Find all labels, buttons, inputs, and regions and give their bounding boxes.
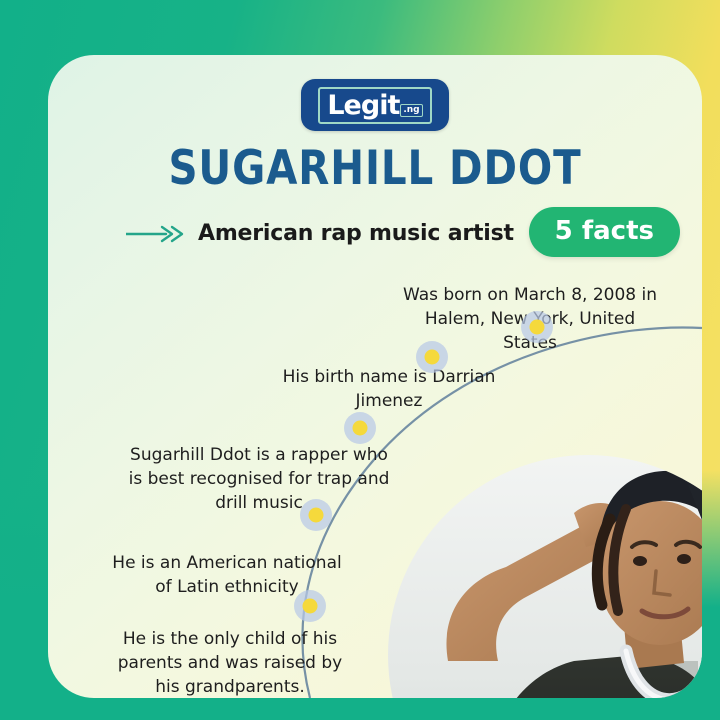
fact-card: Legit .ng SUGARHILL DDOT American rap mu… <box>48 55 702 698</box>
facts-count-badge: 5 facts <box>529 207 680 257</box>
page-subtitle: American rap music artist <box>198 221 514 246</box>
fact-item: Sugarhill Ddot is a rapper who is best r… <box>128 443 390 515</box>
logo-tld: .ng <box>400 104 422 117</box>
fact-item: He is an American national of Latin ethn… <box>106 551 348 599</box>
logo-frame: Legit .ng <box>318 87 431 124</box>
artist-photo-illustration <box>388 455 702 698</box>
fact-item: His birth name is Darrian Jimenez <box>273 365 505 413</box>
arrow-right-double-chevron-icon <box>126 225 186 243</box>
artist-photo <box>388 455 702 698</box>
fact-item: Was born on March 8, 2008 in Halem, New … <box>400 283 660 355</box>
subtitle-row: American rap music artist <box>126 221 514 246</box>
page-title: SUGARHILL DDOT <box>94 141 656 196</box>
legit-ng-logo[interactable]: Legit .ng <box>301 79 449 131</box>
logo-wordmark: Legit <box>327 92 399 119</box>
fact-item: He is the only child of his parents and … <box>110 627 350 698</box>
